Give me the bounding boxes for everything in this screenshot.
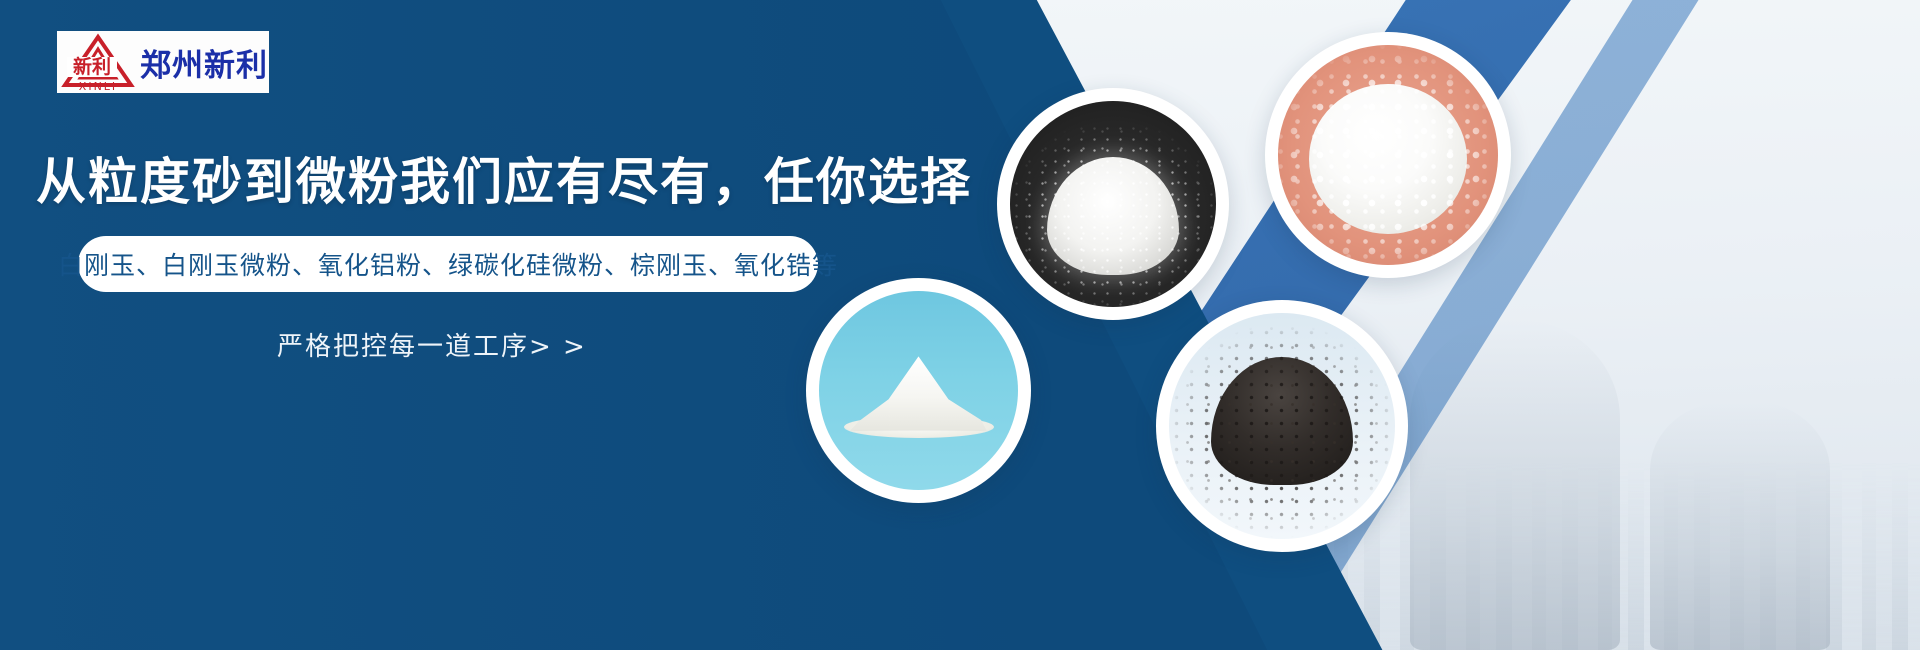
grain-speckles	[1010, 101, 1216, 307]
product-image-white-alumina-micro-powder	[1278, 45, 1498, 265]
company-logo[interactable]: 新利 XINLI 郑州新利	[57, 31, 269, 93]
page-title: 从粒度砂到微粉我们应有尽有，任你选择	[36, 142, 972, 214]
product-list-text: 白刚玉、白刚玉微粉、氧化铝粉、绿碳化硅微粉、棕刚玉、氧化锆等	[58, 246, 838, 282]
product-circle-white-alumina-micro-powder[interactable]	[1265, 32, 1511, 278]
product-image-brown-fused-alumina-grain	[1169, 313, 1395, 539]
product-circle-brown-fused-alumina-grain[interactable]	[1156, 300, 1408, 552]
product-image-alumina-powder-cone	[819, 291, 1018, 490]
material-pile	[851, 356, 987, 430]
svg-text:新利: 新利	[73, 55, 111, 78]
product-image-white-fused-alumina-grain	[1010, 101, 1216, 307]
powder-lumps	[1278, 45, 1498, 265]
process-quality-link[interactable]: 严格把控每一道工序> >	[277, 326, 587, 363]
svg-text:XINLI: XINLI	[79, 80, 117, 91]
logo-company-name: 郑州新利	[140, 40, 268, 85]
promotional-banner: 新利 XINLI 郑州新利 从粒度砂到微粉我们应有尽有，任你选择 白刚玉、白刚玉…	[0, 0, 1920, 650]
product-circle-alumina-powder-cone[interactable]	[806, 278, 1031, 503]
product-list-pill[interactable]: 白刚玉、白刚玉微粉、氧化铝粉、绿碳化硅微粉、棕刚玉、氧化锆等	[78, 236, 818, 292]
xinli-triangle-icon: 新利 XINLI	[61, 33, 135, 91]
grain-speckles	[1169, 313, 1395, 539]
cooling-tower-icon	[1650, 400, 1830, 650]
product-circle-white-fused-alumina-grain[interactable]	[997, 88, 1229, 320]
